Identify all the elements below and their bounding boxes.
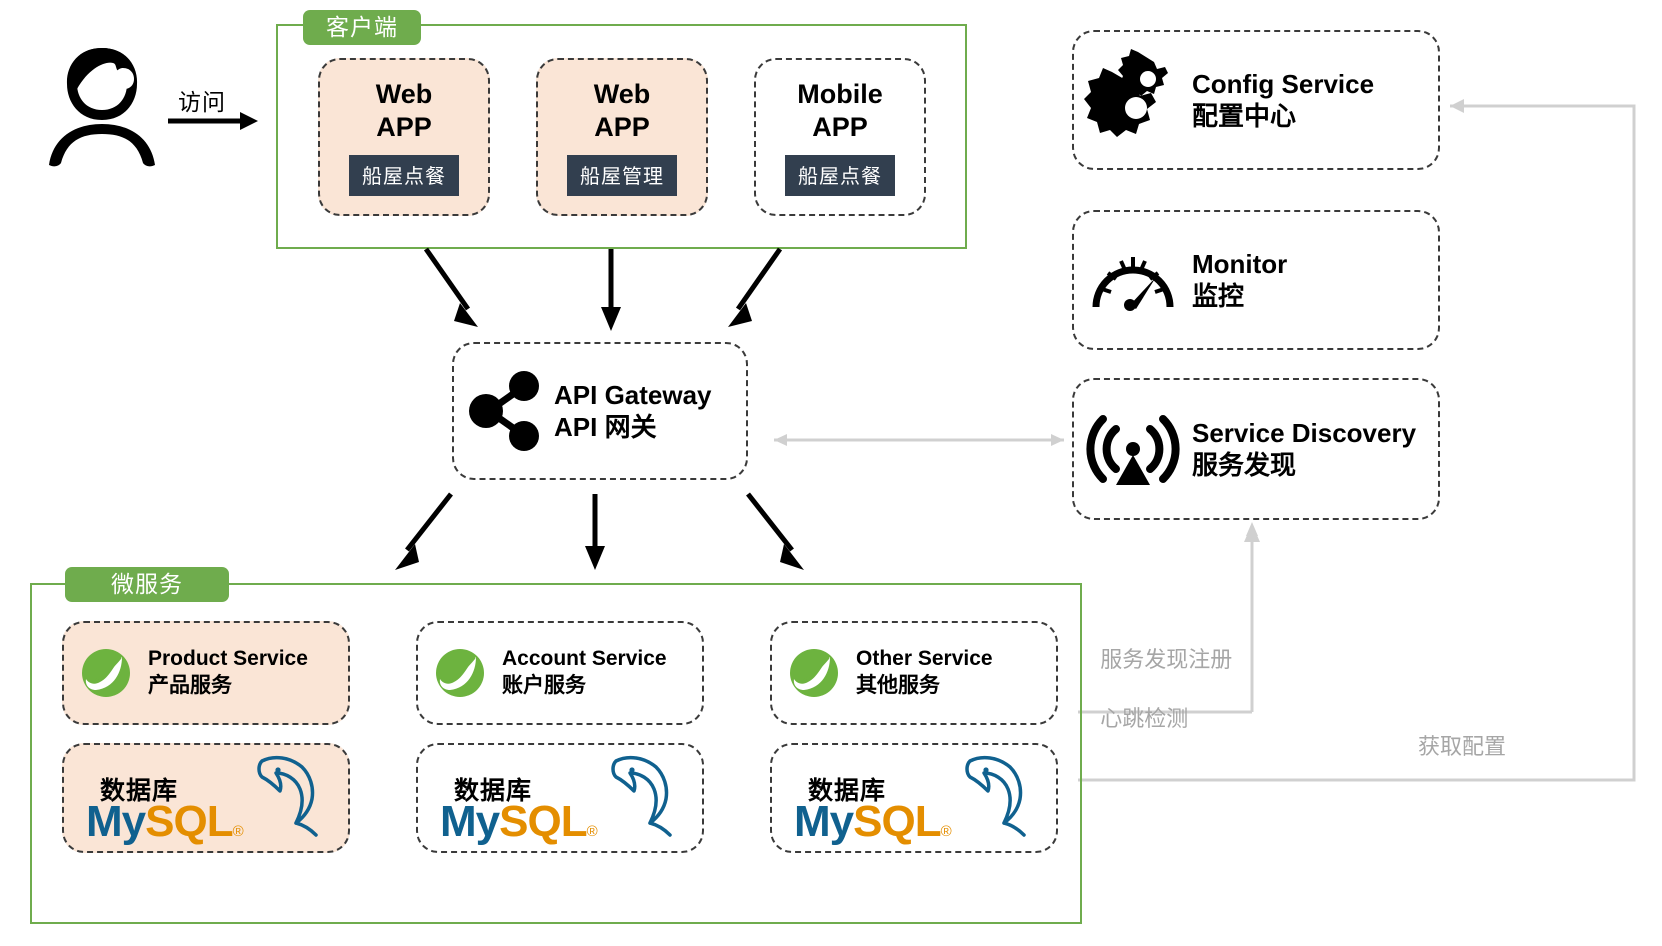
mysql-logo-my-0: My <box>86 797 145 846</box>
client-app-name-en-1: Web <box>594 79 651 109</box>
mysql-logo-reg-2: ® <box>941 823 952 840</box>
client-app-card-2[interactable]: Mobile APP 船屋点餐 <box>754 58 926 216</box>
service-text-account: Account Service 账户服务 <box>502 646 667 700</box>
service-name-cn-0: 产品服务 <box>148 673 308 700</box>
client-app-badge-2: 船屋点餐 <box>785 155 895 196</box>
client-app-badge-0: 船屋点餐 <box>349 155 459 196</box>
api-gateway-text: API Gateway API 网关 <box>554 379 712 444</box>
mysql-logo-1: MySQL® <box>440 797 598 847</box>
user-actor <box>45 42 160 167</box>
arrow-gateway-to-account <box>582 490 612 575</box>
service-card-other[interactable]: Other Service 其他服务 <box>770 621 1058 725</box>
client-app-card-1[interactable]: Web APP 船屋管理 <box>536 58 708 216</box>
discovery-note-line2: 心跳检测 <box>1100 706 1188 731</box>
arrow-webapp1-to-gateway <box>598 245 628 335</box>
mysql-logo-sql-1: SQL <box>499 797 586 846</box>
service-card-account[interactable]: Account Service 账户服务 <box>416 621 704 725</box>
config-note: 获取配置 <box>1418 732 1506 762</box>
arrow-webapp0-to-gateway <box>420 245 490 335</box>
arrow-gateway-to-product <box>385 490 460 575</box>
api-gateway-card[interactable]: API Gateway API 网关 <box>452 342 748 480</box>
service-text-product: Product Service 产品服务 <box>148 646 308 700</box>
client-app-title-0: Web APP <box>376 78 433 144</box>
mysql-logo-reg-1: ® <box>587 823 598 840</box>
mysql-logo-2: MySQL® <box>794 797 952 847</box>
client-app-badge-1: 船屋管理 <box>567 155 677 196</box>
service-name-en-1: Account Service <box>502 646 667 673</box>
discovery-note: 服务发现注册 心跳检测 <box>1088 615 1232 734</box>
discovery-note-line1: 服务发现注册 <box>1100 647 1232 672</box>
spring-leaf-icon <box>772 648 856 698</box>
service-card-product[interactable]: Product Service 产品服务 <box>62 621 350 725</box>
mysql-dolphin-icon <box>236 753 322 839</box>
service-name-cn-2: 其他服务 <box>856 673 993 700</box>
access-arrow <box>168 110 258 132</box>
spring-leaf-icon <box>418 648 502 698</box>
mysql-logo-0: MySQL® <box>86 797 244 847</box>
service-text-other: Other Service 其他服务 <box>856 646 993 700</box>
microservices-group-tag: 微服务 <box>65 567 229 602</box>
mysql-logo-my-2: My <box>794 797 853 846</box>
client-app-name-en-0: Web <box>376 79 433 109</box>
arrow-gateway-to-other <box>740 490 815 575</box>
mysql-logo-sql-0: SQL <box>145 797 232 846</box>
service-name-cn-1: 账户服务 <box>502 673 667 700</box>
connector-gateway-service-discovery <box>760 425 1078 455</box>
database-card-0[interactable]: 数据库 MySQL® <box>62 743 350 853</box>
user-icon <box>45 42 160 167</box>
client-app-title-1: Web APP <box>594 78 651 144</box>
api-gateway-title-cn: API 网关 <box>554 411 712 444</box>
client-app-name-en2-1: APP <box>594 112 650 142</box>
arrow-mobileapp-to-gateway <box>718 245 788 335</box>
client-app-name-en2-2: APP <box>812 112 868 142</box>
service-name-en-0: Product Service <box>148 646 308 673</box>
database-card-2[interactable]: 数据库 MySQL® <box>770 743 1058 853</box>
mysql-logo-reg-0: ® <box>233 823 244 840</box>
client-group-tag: 客户端 <box>303 10 421 45</box>
api-gateway-title-en: API Gateway <box>554 379 712 412</box>
client-app-card-0[interactable]: Web APP 船屋点餐 <box>318 58 490 216</box>
mysql-logo-sql-2: SQL <box>853 797 940 846</box>
mysql-dolphin-icon <box>590 753 676 839</box>
client-app-name-en-2: Mobile <box>797 79 883 109</box>
share-nodes-icon <box>454 371 554 451</box>
client-app-name-en2-0: APP <box>376 112 432 142</box>
mysql-logo-my-1: My <box>440 797 499 846</box>
database-card-1[interactable]: 数据库 MySQL® <box>416 743 704 853</box>
client-app-title-2: Mobile APP <box>797 78 883 144</box>
mysql-dolphin-icon <box>944 753 1030 839</box>
service-name-en-2: Other Service <box>856 646 993 673</box>
spring-leaf-icon <box>64 648 148 698</box>
